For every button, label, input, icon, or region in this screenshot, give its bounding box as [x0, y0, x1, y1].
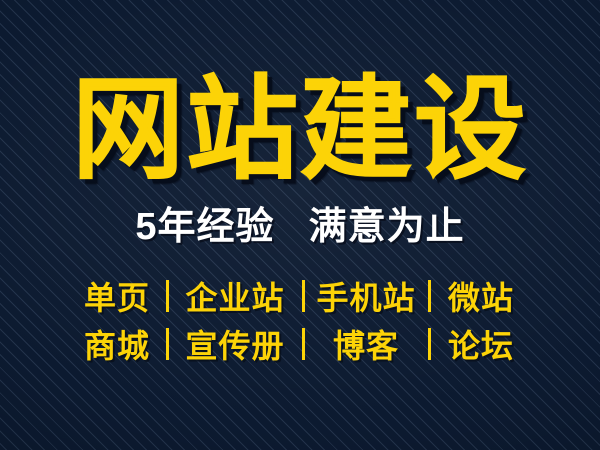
tag-separator	[166, 328, 169, 360]
service-tag-grid: 单页 企业站 手机站 微站 商城 宣传册 博客 论坛	[74, 272, 526, 368]
tag-separator	[166, 280, 169, 312]
service-tag[interactable]: 微站	[448, 273, 514, 319]
service-tag[interactable]: 企业站	[185, 273, 284, 319]
tag-separator	[428, 328, 431, 360]
service-tag[interactable]: 宣传册	[185, 321, 284, 367]
headline-title: 网站建设	[72, 74, 528, 186]
tag-separator	[428, 280, 431, 312]
banner-content: 网站建设 5年经验 满意为止 单页 企业站 手机站 微站 商城 宣传册 博客 论…	[0, 0, 600, 450]
service-tag[interactable]: 商城	[84, 321, 150, 367]
service-tag[interactable]: 单页	[84, 273, 150, 319]
subtitle-left: 5年经验	[135, 208, 274, 246]
service-tag[interactable]: 手机站	[316, 273, 415, 319]
service-tag[interactable]: 博客	[333, 321, 399, 367]
subtitle-row: 5年经验 满意为止	[135, 208, 464, 246]
service-tag[interactable]: 论坛	[448, 321, 514, 367]
tag-separator	[302, 280, 305, 312]
tag-separator	[302, 328, 305, 360]
subtitle-right: 满意为止	[309, 208, 465, 246]
promo-banner: 网站建设 5年经验 满意为止 单页 企业站 手机站 微站 商城 宣传册 博客 论…	[0, 0, 600, 450]
